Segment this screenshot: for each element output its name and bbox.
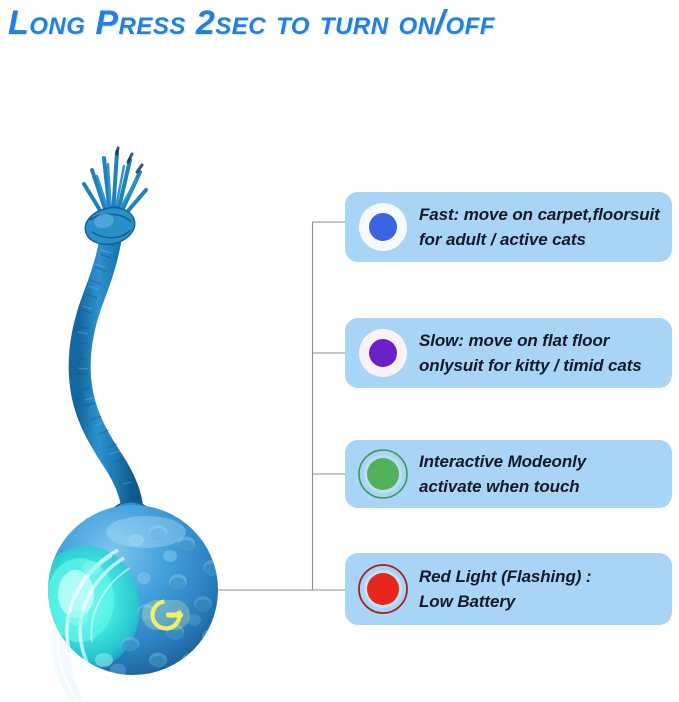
- callout-fast-mode-text: Fast: move on carpet,floorsuit for adult…: [419, 202, 660, 252]
- callout-interactive-mode-text: Interactive Modeonly activate when touch: [419, 449, 586, 499]
- infographic-page: Long Press 2sec to turn on/off: [0, 0, 679, 702]
- callout-line2: onlysuit for kitty / timid cats: [419, 353, 642, 378]
- callout-fast-mode[interactable]: Fast: move on carpet,floorsuit for adult…: [345, 192, 672, 262]
- callout-line2: Low Battery: [419, 589, 592, 614]
- callout-low-battery-text: Red Light (Flashing) : Low Battery: [419, 564, 592, 614]
- callout-line1: Interactive Modeonly: [419, 452, 586, 471]
- callout-line1: Fast: move on carpet,floorsuit: [419, 205, 660, 224]
- power-g-icon: [142, 598, 190, 632]
- status-indicator-blue: [355, 199, 411, 255]
- callout-line1: Red Light (Flashing) :: [419, 567, 592, 586]
- status-indicator-green: [355, 446, 411, 502]
- callout-slow-mode-text: Slow: move on flat floor onlysuit for ki…: [419, 328, 642, 378]
- product-image: [18, 120, 288, 700]
- callout-interactive-mode[interactable]: Interactive Modeonly activate when touch: [345, 440, 672, 508]
- callout-line1: Slow: move on flat floor: [419, 331, 609, 350]
- callout-low-battery[interactable]: Red Light (Flashing) : Low Battery: [345, 553, 672, 625]
- status-indicator-purple: [355, 325, 411, 381]
- callout-line2: activate when touch: [419, 474, 586, 499]
- page-title: Long Press 2sec to turn on/off: [8, 4, 668, 43]
- rope-tug: [75, 148, 156, 539]
- callout-line2: for adult / active cats: [419, 227, 660, 252]
- callout-slow-mode[interactable]: Slow: move on flat floor onlysuit for ki…: [345, 318, 672, 388]
- status-indicator-red: [355, 561, 411, 617]
